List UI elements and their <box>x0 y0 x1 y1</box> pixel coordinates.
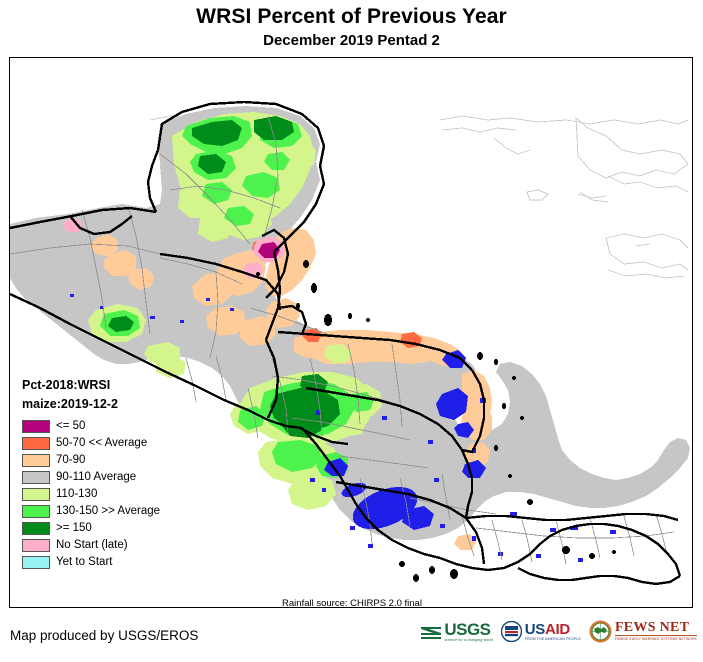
legend-item: Yet to Start <box>22 554 160 571</box>
legend-swatch <box>22 522 50 535</box>
footer: Map produced by USGS/EROS USGS science f… <box>0 608 703 662</box>
usgs-tagline: science for a changing world <box>444 638 492 643</box>
legend-swatch <box>22 420 50 433</box>
rainfall-source-caption: Rainfall source: CHIRPS 2.0 final <box>10 598 693 608</box>
page-title: WRSI Percent of Previous Year <box>0 5 703 29</box>
legend-label: 90-110 Average <box>56 471 136 484</box>
usaid-wordmark: USAID <box>525 622 581 637</box>
legend-item: 50-70 << Average <box>22 435 160 452</box>
legend-item: <= 50 <box>22 418 160 435</box>
legend-label: 70-90 <box>56 454 85 467</box>
legend-label: 110-130 <box>56 488 97 501</box>
legend-label: 50-70 << Average <box>56 437 147 450</box>
usgs-logo[interactable]: USGS science for a changing world <box>420 621 492 643</box>
legend-item: 110-130 <box>22 486 160 503</box>
usaid-word-aid: AID <box>545 621 570 638</box>
fews-tagline: FAMINE EARLY WARNING SYSTEMS NETWORK <box>615 635 697 642</box>
legend-swatch <box>22 454 50 467</box>
logo-strip: USGS science for a changing world USAID … <box>420 620 697 643</box>
legend-item: >= 150 <box>22 520 160 537</box>
usaid-tagline: FROM THE AMERICAN PEOPLE <box>525 637 581 642</box>
legend-swatch <box>22 471 50 484</box>
map-legend: Pct-2018:WRSI maize:2019-12-2 <= 5050-70… <box>22 376 160 571</box>
legend-label: Yet to Start <box>56 556 112 569</box>
legend-swatch <box>22 437 50 450</box>
legend-label: >= 150 <box>56 522 92 535</box>
legend-rows: <= 5050-70 << Average70-9090-110 Average… <box>22 418 160 571</box>
legend-title-line1: Pct-2018:WRSI <box>22 376 160 395</box>
legend-item: 90-110 Average <box>22 469 160 486</box>
title-block: WRSI Percent of Previous Year December 2… <box>0 0 703 50</box>
legend-label: 130-150 >> Average <box>56 505 160 518</box>
legend-title-line2: maize:2019-12-2 <box>22 395 160 414</box>
legend-item: 70-90 <box>22 452 160 469</box>
usaid-seal-icon <box>501 621 522 642</box>
map-credit: Map produced by USGS/EROS <box>10 628 198 643</box>
fews-wordmark: FEWS NET <box>615 621 697 635</box>
usaid-word-us: US <box>525 621 545 638</box>
legend-label: <= 50 <box>56 420 85 433</box>
legend-item: No Start (late) <box>22 537 160 554</box>
usgs-wordmark: USGS <box>444 621 492 638</box>
legend-swatch <box>22 488 50 501</box>
map-frame[interactable]: .c-land { fill:#c6c6c6; } .c-70_90 { fil… <box>9 57 693 608</box>
globe-icon <box>589 620 612 643</box>
legend-swatch <box>22 539 50 552</box>
usaid-logo[interactable]: USAID FROM THE AMERICAN PEOPLE <box>501 621 581 642</box>
legend-label: No Start (late) <box>56 539 128 552</box>
usgs-wave-icon <box>420 624 442 643</box>
page-subtitle: December 2019 Pentad 2 <box>0 32 703 50</box>
legend-swatch <box>22 556 50 569</box>
fews-net-logo[interactable]: FEWS NET FAMINE EARLY WARNING SYSTEMS NE… <box>589 620 697 643</box>
legend-item: 130-150 >> Average <box>22 503 160 520</box>
legend-swatch <box>22 505 50 518</box>
